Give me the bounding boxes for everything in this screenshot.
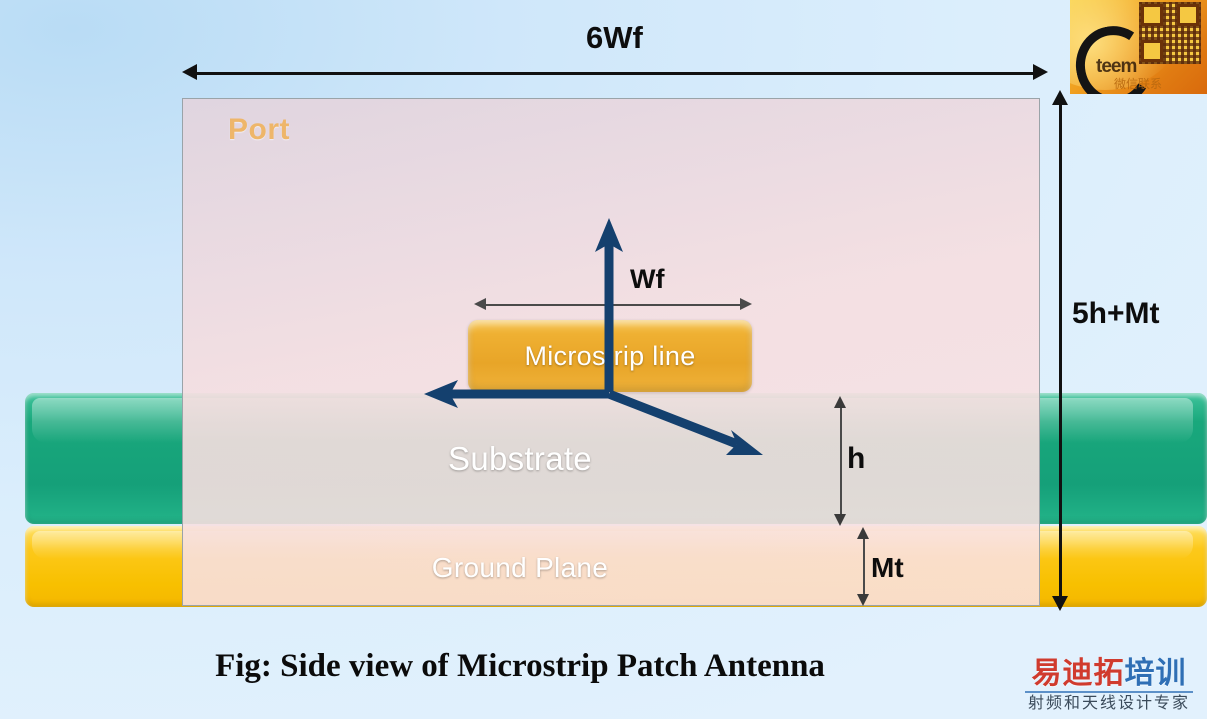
- qr-eye-bottom-left: [1141, 40, 1163, 62]
- dim-6wf-label: 6Wf: [586, 20, 643, 56]
- dim-mt-label: Mt: [871, 552, 904, 584]
- qr-eye-top-right: [1177, 4, 1199, 26]
- dim-h-label: h: [847, 442, 865, 476]
- figure-caption: Fig: Side view of Microstrip Patch Anten…: [0, 648, 1040, 685]
- dim-6wf-arrow-left: [182, 64, 197, 80]
- dim-mt-arrow-down: [857, 594, 869, 606]
- dim-mt-line-vert: [863, 538, 865, 596]
- dim-wf-label: Wf: [630, 264, 664, 295]
- port-label: Port: [228, 113, 290, 147]
- microstrip-line-block: Microstrip line: [468, 320, 752, 392]
- dim-wf-arrow-right: [740, 298, 752, 310]
- dim-5h-mt-arrow-down: [1052, 596, 1068, 611]
- dim-6wf-arrow-right: [1033, 64, 1048, 80]
- dim-h-arrow-up: [834, 396, 846, 408]
- qr-code-icon: [1139, 2, 1201, 64]
- dim-5h-mt-label: 5h+Mt: [1072, 297, 1160, 331]
- dim-mt-arrow-up: [857, 527, 869, 539]
- brand-name-blue: 培训: [1125, 657, 1187, 690]
- dim-5h-mt-arrow-up: [1052, 90, 1068, 105]
- dim-6wf-line: [195, 72, 1035, 75]
- dim-wf-arrow-left: [474, 298, 486, 310]
- brand-watermark: 易迪拓培训 射频和天线设计专家: [1019, 658, 1199, 713]
- brand-watermark-rule: [1025, 691, 1193, 693]
- dim-5h-mt-line: [1059, 104, 1062, 598]
- brand-name-red: 易迪拓: [1032, 657, 1125, 690]
- dim-h-arrow-down: [834, 514, 846, 526]
- qr-watermark: teem 微信联系: [1070, 0, 1207, 94]
- qr-watermark-cn-text: 微信联系: [1114, 75, 1162, 92]
- qr-eye-top-left: [1141, 4, 1163, 26]
- dim-h-line-vert: [840, 406, 842, 516]
- brand-watermark-name: 易迪拓培训: [1019, 658, 1199, 690]
- figure-canvas: Port Microstrip line Substrate Ground Pl…: [0, 0, 1207, 719]
- substrate-label: Substrate: [0, 440, 1040, 478]
- brand-watermark-tagline: 射频和天线设计专家: [1019, 696, 1199, 713]
- dim-wf-line: [486, 304, 740, 306]
- microstrip-line-label: Microstrip line: [524, 341, 695, 372]
